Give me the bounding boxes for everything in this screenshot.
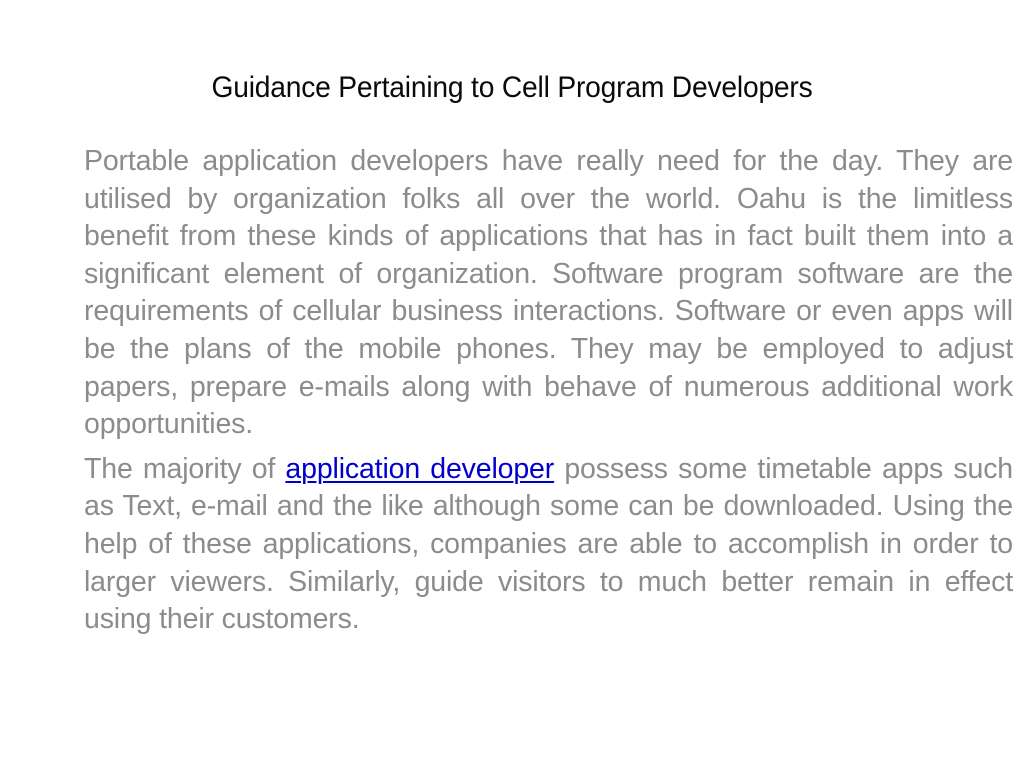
page-title: Guidance Pertaining to Cell Program Deve… <box>110 68 915 108</box>
slide-body: Portable application developers have rea… <box>84 143 1013 639</box>
application-developer-link[interactable]: application developer <box>285 453 554 485</box>
body-paragraph-2: The majority of application developer po… <box>84 451 1013 639</box>
paragraph-2-text-before-link: The majority of <box>84 453 285 485</box>
slide-canvas: Guidance Pertaining to Cell Program Deve… <box>0 0 1024 768</box>
body-paragraph-1: Portable application developers have rea… <box>84 143 1013 444</box>
